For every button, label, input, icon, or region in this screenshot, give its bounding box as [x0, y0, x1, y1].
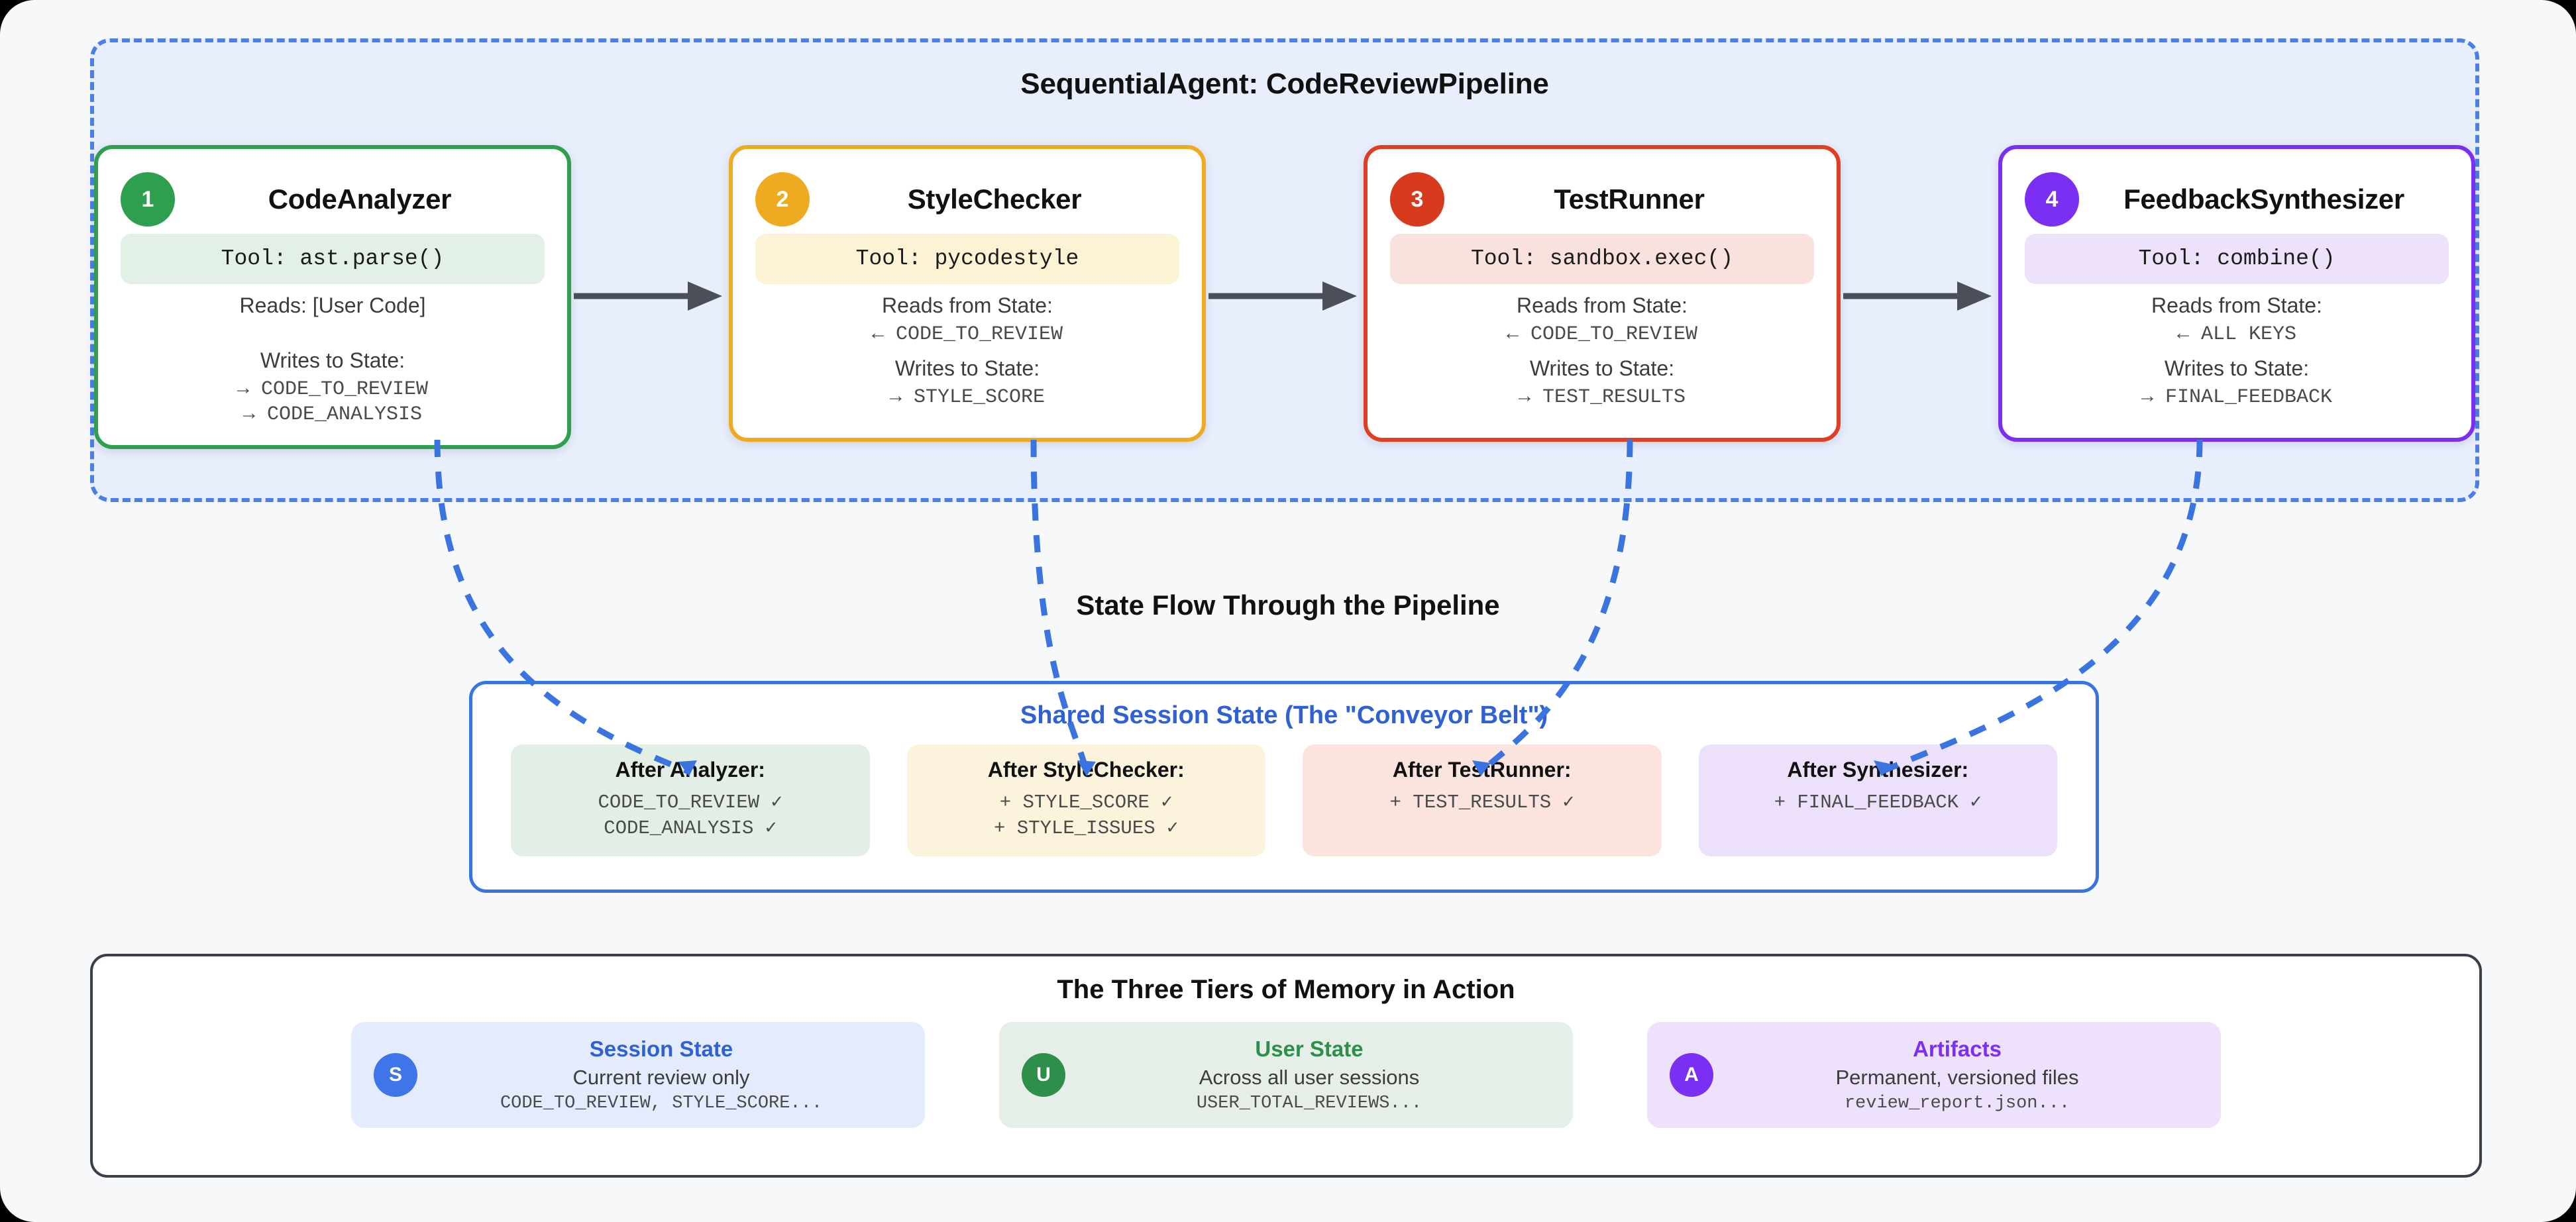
agent-reads-key: ← CODE_TO_REVIEW	[1390, 322, 1814, 347]
agent-reads-key: ← ALL KEYS	[2025, 322, 2449, 347]
arrow-right-icon	[571, 276, 729, 316]
shared-session-state-title: Shared Session State (The "Conveyor Belt…	[472, 701, 2096, 730]
agent-name: StyleChecker	[783, 183, 1179, 215]
memory-tier-keys: review_report.json...	[1713, 1094, 2201, 1113]
agent-name: FeedbackSynthesizer	[2053, 183, 2449, 215]
agent-reads-key: ← CODE_TO_REVIEW	[755, 322, 1179, 347]
diagram-canvas: SequentialAgent: CodeReviewPipeline 1 Co…	[0, 0, 2576, 1222]
state-chip-after-synthesizer[interactable]: After Synthesizer: + FINAL_FEEDBACK ✓	[1699, 744, 2058, 856]
agent-tool-chip: Tool: sandbox.exec()	[1390, 234, 1814, 284]
agent-reads-label: Reads from State:	[755, 293, 1179, 318]
state-chip-key: + FINAL_FEEDBACK ✓	[1708, 790, 2049, 816]
agent-writes-label: Writes to State:	[755, 356, 1179, 381]
state-chip-title: After TestRunner:	[1312, 758, 1652, 782]
memory-tier-body: User State Across all user sessions USER…	[1052, 1037, 1553, 1113]
agent-card-header: 3 TestRunner	[1390, 169, 1814, 230]
state-chip-after-stylechecker[interactable]: After StyleChecker: + STYLE_SCORE ✓ + ST…	[907, 744, 1266, 856]
agent-writes-key: → CODE_ANALYSIS	[121, 402, 545, 427]
agent-tool-chip: Tool: combine()	[2025, 234, 2449, 284]
agent-writes-label: Writes to State:	[2025, 356, 2449, 381]
memory-tier-body: Session State Current review only CODE_T…	[404, 1037, 905, 1113]
shared-session-state-box: Shared Session State (The "Conveyor Belt…	[469, 681, 2099, 893]
agent-card-header: 2 StyleChecker	[755, 169, 1179, 230]
agent-name: TestRunner	[1418, 183, 1814, 215]
agent-card-feedbacksynthesizer[interactable]: 4 FeedbackSynthesizer Tool: combine() Re…	[1998, 145, 2475, 442]
arrow-right-icon	[1206, 276, 1364, 316]
memory-tier-keys: USER_TOTAL_REVIEWS...	[1065, 1094, 1553, 1113]
memory-tier-description: Current review only	[417, 1066, 905, 1090]
arrow-right-icon	[1841, 276, 1998, 316]
agents-row: 1 CodeAnalyzer Tool: ast.parse() Reads: …	[94, 145, 2475, 443]
agent-tool-chip: Tool: pycodestyle	[755, 234, 1179, 284]
pipeline-arrow-3-4	[1841, 145, 1998, 442]
agent-reads-label: Reads: [User Code]	[121, 293, 545, 318]
agent-card-header: 4 FeedbackSynthesizer	[2025, 169, 2449, 230]
agent-name: CodeAnalyzer	[148, 183, 545, 215]
state-chip-key: + STYLE_SCORE ✓	[916, 790, 1257, 816]
agent-reads-label: Reads from State:	[1390, 293, 1814, 318]
memory-tier-body: Artifacts Permanent, versioned files rev…	[1700, 1037, 2201, 1113]
state-chip-title: After Analyzer:	[520, 758, 861, 782]
agent-writes-label: Writes to State:	[1390, 356, 1814, 381]
memory-tier-session-state[interactable]: S Session State Current review only CODE…	[351, 1022, 925, 1128]
memory-tier-name: Session State	[417, 1037, 905, 1062]
state-chip-key: + TEST_RESULTS ✓	[1312, 790, 1652, 816]
state-chip-key: CODE_ANALYSIS ✓	[520, 816, 861, 842]
state-chip-title: After StyleChecker:	[916, 758, 1257, 782]
sequential-agent-pipeline: SequentialAgent: CodeReviewPipeline 1 Co…	[90, 38, 2479, 502]
agent-card-stylechecker[interactable]: 2 StyleChecker Tool: pycodestyle Reads f…	[729, 145, 1206, 442]
memory-tier-keys: CODE_TO_REVIEW, STYLE_SCORE...	[417, 1094, 905, 1113]
state-chip-after-testrunner[interactable]: After TestRunner: + TEST_RESULTS ✓	[1303, 744, 1662, 856]
pipeline-arrow-1-2	[571, 145, 729, 442]
agent-writes-label: Writes to State:	[121, 348, 545, 373]
state-flow-heading: State Flow Through the Pipeline	[0, 589, 2576, 621]
state-chips-row: After Analyzer: CODE_TO_REVIEW ✓ CODE_AN…	[472, 744, 2096, 856]
memory-tier-description: Permanent, versioned files	[1713, 1066, 2201, 1090]
memory-tiers-box: The Three Tiers of Memory in Action S Se…	[90, 954, 2482, 1178]
agent-card-testrunner[interactable]: 3 TestRunner Tool: sandbox.exec() Reads …	[1364, 145, 1841, 442]
agent-writes-key: → TEST_RESULTS	[1390, 385, 1814, 410]
agent-tool-chip: Tool: ast.parse()	[121, 234, 545, 284]
agent-writes-key: → FINAL_FEEDBACK	[2025, 385, 2449, 410]
memory-tier-name: User State	[1065, 1037, 1553, 1062]
agent-card-header: 1 CodeAnalyzer	[121, 169, 545, 230]
state-chip-after-analyzer[interactable]: After Analyzer: CODE_TO_REVIEW ✓ CODE_AN…	[511, 744, 870, 856]
memory-tier-description: Across all user sessions	[1065, 1066, 1553, 1090]
pipeline-arrow-2-3	[1206, 145, 1364, 442]
agent-writes-key: → CODE_TO_REVIEW	[121, 377, 545, 402]
memory-tier-name: Artifacts	[1713, 1037, 2201, 1062]
state-chip-key: + STYLE_ISSUES ✓	[916, 816, 1257, 842]
pipeline-title: SequentialAgent: CodeReviewPipeline	[94, 68, 2475, 101]
state-chip-key: CODE_TO_REVIEW ✓	[520, 790, 861, 816]
memory-tier-artifacts[interactable]: A Artifacts Permanent, versioned files r…	[1647, 1022, 2221, 1128]
agent-writes-key: → STYLE_SCORE	[755, 385, 1179, 410]
memory-tiers-heading: The Three Tiers of Memory in Action	[93, 975, 2479, 1005]
memory-tier-user-state[interactable]: U User State Across all user sessions US…	[999, 1022, 1573, 1128]
agent-reads-label: Reads from State:	[2025, 293, 2449, 318]
state-chip-title: After Synthesizer:	[1708, 758, 2049, 782]
memory-tiers-row: S Session State Current review only CODE…	[93, 1022, 2479, 1128]
spacer	[121, 322, 545, 339]
agent-card-codeanalyzer[interactable]: 1 CodeAnalyzer Tool: ast.parse() Reads: …	[94, 145, 571, 449]
